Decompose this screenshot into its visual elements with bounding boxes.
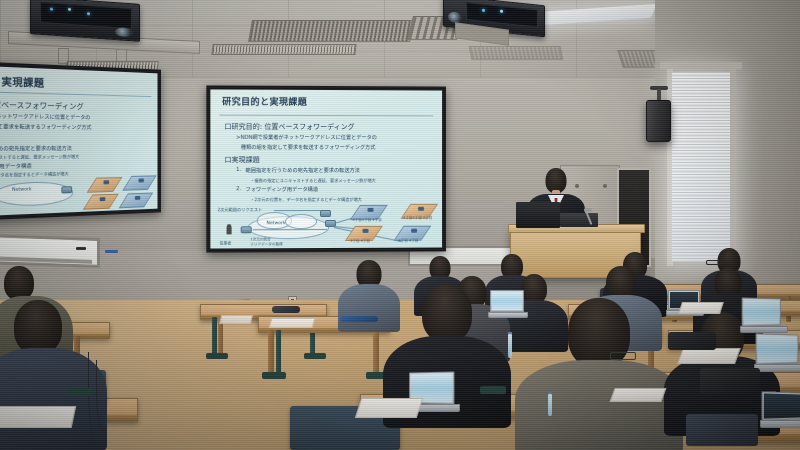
air-vent-5 (469, 46, 564, 60)
slide-challenge-sub-1: ・複数の指定にユニキャストすると遅延、要求メッセージ数が増大 (250, 178, 376, 184)
map-tile-left-2 (122, 175, 156, 190)
map-tile-left-1 (86, 177, 122, 193)
water-bottle-1[interactable] (508, 334, 512, 358)
router-icon-left-1 (61, 187, 72, 194)
marker-blue[interactable] (105, 250, 118, 253)
map-tile-label-1: 4丁目1丁目 1丁目 (352, 218, 381, 223)
laptop-lid (742, 297, 781, 326)
item-on-desk[interactable] (272, 306, 300, 313)
desk-leg (268, 330, 274, 376)
paper-sheet-6[interactable] (219, 315, 253, 324)
diagram-left-label: 2次元範囲のリクエスト (217, 207, 262, 213)
pencil-case-blue[interactable] (340, 316, 378, 322)
laptop-screen (758, 335, 797, 362)
slide-title: 研究目的と実現課題 (222, 94, 307, 107)
desk-leg (276, 330, 281, 376)
air-vent-3 (211, 44, 356, 55)
map-tile-label-4: 4丁目 4丁目 (399, 238, 419, 243)
bag-on-desk-right[interactable] (700, 368, 760, 394)
attendee-body (515, 360, 683, 450)
attendee-head (422, 284, 472, 342)
paper-sheet-2[interactable] (0, 406, 76, 428)
paper-sheet-7[interactable] (609, 388, 666, 402)
slide-heading-objective: 口研究目的: 位置ベースフォワーディング (224, 121, 354, 131)
laptop-far-right[interactable] (762, 392, 800, 428)
paper-sheet-4[interactable] (678, 302, 724, 314)
laptop-screen (492, 292, 522, 310)
slide-bullet-objective-1: ≻NDN網で投業者がネットワークアドレスに位置とデータの (236, 134, 377, 141)
paper-sheet-1[interactable] (355, 398, 423, 418)
laptop-base (760, 420, 800, 428)
map-tile-left-3 (83, 194, 119, 210)
requester-label: 投業者 (220, 240, 232, 246)
slide-item-left-2: ワーディング用データ構造 (0, 163, 32, 171)
window-blinds (672, 72, 732, 262)
desk-foot-front (68, 388, 94, 396)
slide-item-left-1: 指定を行うための宛先指定と要求の転送方法 (0, 145, 72, 153)
paper-sheet-3[interactable] (677, 348, 741, 364)
attendee-right-1 (514, 298, 684, 450)
projection-screen-center: 研究目的と実現課題 口研究目的: 位置ベースフォワーディング ≻NDN網で投業者… (206, 85, 446, 252)
desk-foot (262, 372, 286, 379)
slide-challenge-num-2: 2. (236, 186, 241, 192)
slide-challenge-num-1: 1. (236, 167, 241, 173)
map-tile-label-2: 4丁目2丁目 2丁目 (403, 216, 432, 221)
eyeglasses-on-desk[interactable] (610, 352, 636, 360)
slide-title-rule (220, 115, 433, 117)
slide-surface-left: 的と実現課題 的: 位置ベースフォワーディング で投業者がネットワークアドレスに… (0, 66, 158, 215)
slide-title-left: 的と実現課題 (0, 72, 44, 90)
laptop-right-1[interactable] (742, 298, 784, 334)
map-tile-left-4 (119, 193, 153, 209)
attendee-head (14, 300, 62, 354)
projection-screen-left: 的と実現課題 的: 位置ベースフォワーディング で投業者がネットワークアドレスに… (0, 62, 161, 220)
laptop-lid (490, 290, 524, 312)
laptop-lid (762, 391, 800, 421)
ceiling-speaker (646, 100, 671, 142)
lectern-laptop-monitor[interactable] (516, 202, 560, 228)
window-header (660, 62, 742, 69)
network-cloud-lobe-2 (285, 214, 317, 229)
laptop-base (740, 326, 788, 333)
desk-foot-center (480, 386, 506, 394)
slide-challenge-text-1: 範囲指定を行うための宛先指定と要求の転送方法 (246, 167, 360, 174)
air-vent-1 (248, 20, 414, 42)
bag-dark-front[interactable] (686, 414, 758, 446)
slide-sub-left-1: の指定にユニキャストすると遅延、要求メッセージ数が増大 (0, 154, 79, 161)
router-icon-3 (320, 210, 331, 217)
slide-sub-left-2: 元の位置を、データ名を指定するとデータ構造が増大 (0, 171, 69, 179)
laptop-base (754, 364, 800, 372)
slide-bullet-left-2: の組を指定して要求を転送するフォワーディング方式 (0, 123, 91, 131)
slide-heading-challenges: 口実現課題 (224, 155, 259, 165)
laptop-screen (764, 393, 800, 418)
laptop-base (488, 312, 528, 318)
microphone-head (584, 208, 592, 212)
slide-challenge-sub-2: ・2次元の位置を、データ名を指定するとデータ構造が増大 (250, 197, 362, 203)
diagram-leader-line (274, 210, 325, 211)
desk-foot (206, 353, 228, 359)
requester-icon (227, 225, 232, 235)
paper-sheet-5[interactable] (269, 318, 316, 328)
desk-leg (212, 317, 217, 357)
diagram-sub-label: 1次元の統合 エリアデータの取得 (250, 237, 283, 247)
laptop-screen (744, 300, 779, 325)
slide-bullet-left-1: で投業者がネットワークアドレスに位置とデータの (0, 112, 90, 121)
laptop-lid (756, 333, 799, 365)
network-cloud-left (0, 181, 73, 207)
window-frame-right (730, 66, 736, 266)
lectern-equipment[interactable] (560, 213, 598, 227)
window-with-blinds (672, 72, 732, 262)
desk-foot (304, 353, 326, 359)
map-tile-label-3: 3丁目 4丁目 (350, 238, 370, 243)
slide-surface-center: 研究目的と実現課題 口研究目的: 位置ベースフォワーディング ≻NDN網で投業者… (210, 89, 442, 248)
eyeglasses (706, 260, 722, 265)
floor-cable-2 (96, 360, 107, 431)
slide-challenge-text-2: フォワーディング用データ構造 (246, 186, 319, 193)
network-cloud-label-left: Network (12, 188, 31, 194)
water-bottle-2[interactable] (548, 394, 552, 416)
laptop-right-2[interactable] (756, 334, 800, 372)
slide-bullet-objective-2: 種類の組を指定して要求を転送するフォワーディング方式 (241, 144, 375, 151)
router-icon-1 (241, 226, 252, 233)
attendee-head (4, 266, 34, 300)
bag-on-desk-center[interactable] (668, 332, 716, 350)
marker-dark[interactable] (76, 247, 86, 250)
network-cloud-label: Network (267, 221, 286, 226)
slide-heading-left-1: 的: 位置ベースフォワーディング (0, 99, 84, 113)
desk-leg (373, 330, 379, 376)
conference-room-photo: 的と実現課題 的: 位置ベースフォワーディング で投業者がネットワークアドレスに… (0, 0, 800, 450)
laptop-back-center[interactable] (490, 290, 526, 318)
